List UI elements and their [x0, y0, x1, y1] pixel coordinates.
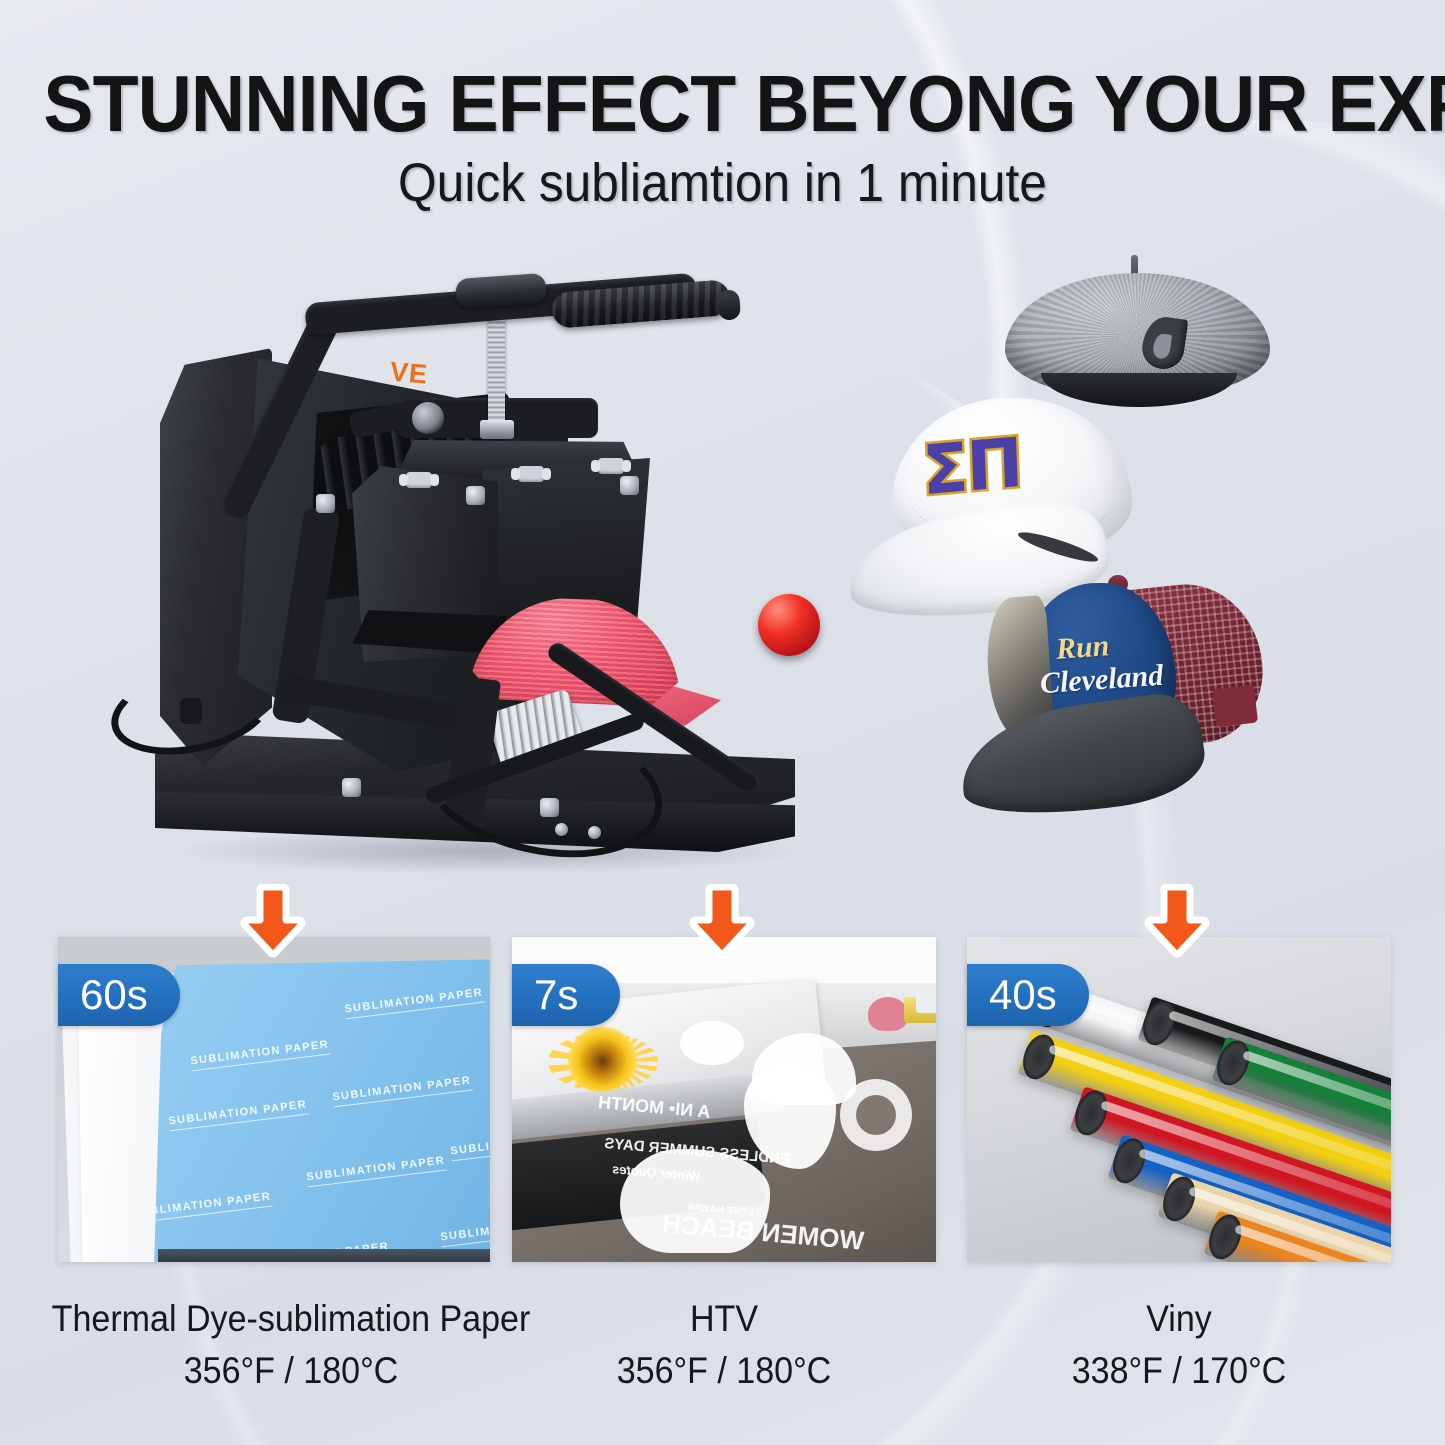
rod-nut: [480, 420, 514, 439]
hex-bolt: [620, 476, 639, 495]
caption-temperature: 356°F / 180°C: [23, 1342, 558, 1399]
cord-gland: [180, 698, 202, 724]
paper-stack-edge: [158, 1249, 490, 1262]
vinyl-circle-badge: [840, 1079, 912, 1151]
hex-bolt: [466, 486, 485, 505]
duration-badge-40s: 40s: [967, 964, 1089, 1026]
caption-sublimation-paper: Thermal Dye-sublimation Paper 356°F / 18…: [23, 1296, 558, 1400]
trucker-cap-line1: Run: [1055, 629, 1111, 667]
white-tag: [916, 991, 936, 1013]
badge-label: 7s: [534, 971, 578, 1019]
paper-watermark: SUBLIMATION PAPER: [190, 1039, 330, 1068]
duration-badge-7s: 7s: [512, 964, 620, 1026]
bracket-pivot-hole: [412, 402, 444, 434]
duration-badge-60s: 60s: [58, 964, 180, 1026]
badge-label: 60s: [80, 971, 148, 1019]
blue-sublimation-sheet: SUBLIMATION PAPER SUBLIMATION PAPER SUBL…: [154, 959, 490, 1262]
down-arrow-icon: [237, 884, 309, 958]
paper-watermark: SUBLIMATION PAPER: [440, 1215, 490, 1244]
pink-sticker: [868, 997, 908, 1031]
page-subheadline: Quick subliamtion in 1 minute: [58, 152, 1387, 214]
handle-end-cap: [717, 289, 741, 321]
wing-nut: [406, 472, 432, 488]
hex-bolt: [342, 778, 361, 797]
vinyl-speech-bubble: [680, 1021, 744, 1065]
wing-nut: [598, 458, 624, 474]
caption-title: Viny: [984, 1296, 1374, 1342]
red-ball-knob: [758, 594, 820, 656]
paper-watermark: SUBLIMATION PAPER: [168, 1099, 308, 1128]
caption-title: Thermal Dye-sublimation Paper: [23, 1296, 558, 1342]
badge-label: 40s: [989, 971, 1057, 1019]
caption-title: HTV: [529, 1296, 919, 1342]
caption-htv: HTV 356°F / 180°C: [529, 1296, 919, 1400]
paper-watermark: SUBLIMATION PAPER: [332, 1075, 472, 1104]
cap-brim: [954, 689, 1210, 828]
caption-vinyl: Viny 338°F / 170°C: [984, 1296, 1374, 1400]
down-arrow-icon: [1141, 884, 1213, 958]
paper-watermark: SUBLIMATION PAPER: [306, 1155, 446, 1184]
greek-letters-logo: ΣΠ: [921, 424, 1023, 512]
caption-temperature: 356°F / 180°C: [529, 1342, 919, 1399]
threaded-rod: [488, 304, 505, 426]
hex-bolt: [316, 494, 335, 513]
page-headline: STUNNING EFFECT BEYONG YOUR EXPECTION: [43, 58, 1401, 150]
trucker-cap: Run Cleveland: [960, 575, 1270, 820]
paper-watermark: SUBLIMATION PAPER: [450, 1129, 490, 1158]
wing-nut: [518, 466, 544, 482]
hat-heat-press-product-photo: VE: [120, 280, 840, 870]
caption-temperature: 338°F / 170°C: [984, 1342, 1374, 1399]
brand-logo-text: VE: [389, 356, 430, 390]
pressure-adjust-knob: [455, 273, 547, 309]
paper-watermark: SUBLIMATION PAPER: [344, 987, 484, 1016]
side-patch: [1212, 685, 1258, 728]
down-arrow-icon: [686, 884, 758, 958]
product-marketing-image: STUNNING EFFECT BEYONG YOUR EXPECTION Qu…: [0, 0, 1445, 1445]
